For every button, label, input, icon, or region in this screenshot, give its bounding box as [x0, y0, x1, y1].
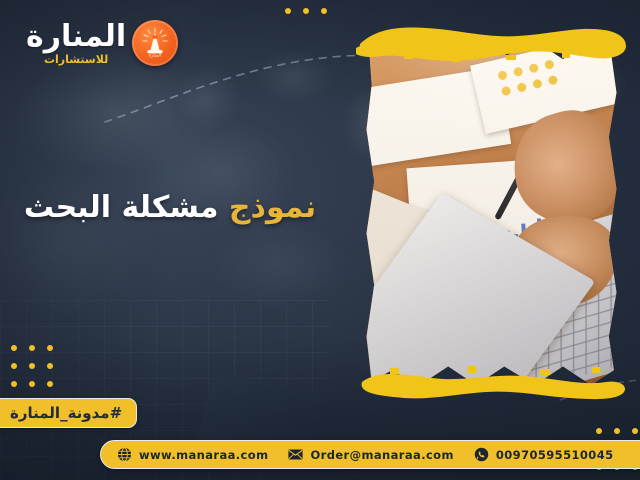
dot-grid-top [285, 8, 327, 14]
brand-tagline: للاستشارات [44, 54, 108, 65]
dot [321, 8, 327, 14]
dot [29, 363, 35, 369]
brush-stroke-top-icon [356, 24, 628, 66]
website-text: www.manaraa.com [139, 448, 268, 462]
dot [285, 8, 291, 14]
dot [47, 381, 53, 387]
dot [47, 363, 53, 369]
page-title: نموذج مشكلة البحث [0, 190, 340, 225]
dot [632, 428, 638, 434]
dot [11, 381, 17, 387]
whatsapp-icon [474, 447, 489, 462]
dot [11, 345, 17, 351]
dot [47, 345, 53, 351]
lighthouse-icon: المنارة [132, 20, 178, 66]
hero-photo [364, 26, 619, 396]
page-title-rest: مشكلة البحث [24, 190, 219, 225]
dot [614, 428, 620, 434]
dot-grid-left [11, 345, 53, 387]
dot [303, 8, 309, 14]
hashtag-badge[interactable]: #مدونة_المنارة [0, 398, 137, 428]
hero-photo-image [364, 26, 619, 396]
envelope-icon [288, 447, 303, 462]
contact-bar: www.manaraa.com Order@manaraa.com 009705… [100, 440, 640, 469]
brand-logo-text: المنارة للاستشارات [26, 22, 126, 65]
brush-stroke-bottom-icon [356, 360, 628, 402]
dot [29, 345, 35, 351]
contact-phone[interactable]: 00970595510045 [474, 447, 614, 462]
brand-logo[interactable]: المنارة للاستشارات المنارة [26, 20, 178, 66]
page-title-accent: نموذج [229, 190, 316, 225]
badge-caption: المنارة [149, 54, 161, 59]
email-text: Order@manaraa.com [310, 448, 453, 462]
phone-text: 00970595510045 [496, 448, 614, 462]
poster-canvas: المنارة للاستشارات المنارة [0, 0, 640, 480]
lighthouse-glyph: المنارة [135, 23, 175, 63]
dot [596, 428, 602, 434]
dot [29, 381, 35, 387]
brand-name: المنارة [26, 22, 126, 52]
globe-icon [117, 447, 132, 462]
hashtag-label: #مدونة_المنارة [10, 404, 122, 422]
contact-email[interactable]: Order@manaraa.com [288, 447, 453, 462]
dot [11, 363, 17, 369]
photo-color-grade [364, 26, 619, 396]
contact-website[interactable]: www.manaraa.com [117, 447, 268, 462]
